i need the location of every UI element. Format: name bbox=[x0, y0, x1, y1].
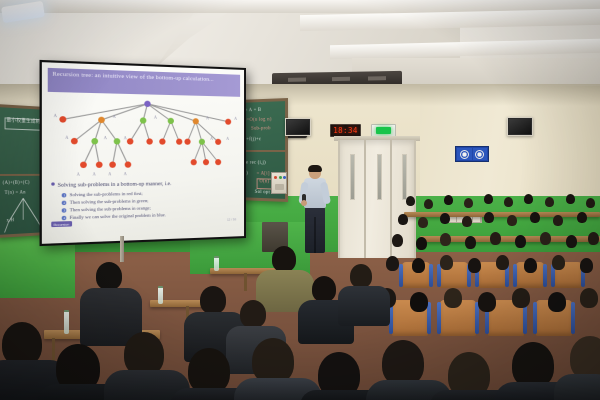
bullet-dot-icon bbox=[51, 182, 54, 185]
led-clock-time: 18:34 bbox=[333, 126, 358, 135]
bullet-number-icon: 2 bbox=[62, 200, 67, 205]
audience-head bbox=[462, 216, 472, 227]
desk-row bbox=[404, 212, 600, 217]
bullet-number-icon: 4 bbox=[62, 216, 67, 221]
svg-text:A: A bbox=[113, 114, 116, 119]
audience-body bbox=[338, 286, 390, 326]
svg-text:A: A bbox=[210, 136, 213, 141]
wall-safety-signs bbox=[455, 146, 489, 162]
screen-support-pole bbox=[120, 236, 124, 262]
audience-head bbox=[412, 258, 425, 273]
lecture-hall-photo: 最小权重生成树 (A)+(B)+(C) T(n) = An x H f(i) =… bbox=[0, 0, 600, 400]
audience-head bbox=[465, 236, 476, 249]
control-light-green-icon bbox=[279, 176, 282, 179]
audience-head bbox=[96, 262, 122, 290]
audience-head bbox=[418, 217, 428, 228]
bullet-number-icon: 3 bbox=[62, 208, 67, 213]
chalk-right-line-8: Sol opt bbox=[255, 190, 270, 197]
slide-sub-bullet-3-text: Finally we can solve the original proble… bbox=[70, 212, 166, 220]
chalk-right-line-7: O(n) bbox=[259, 179, 269, 185]
svg-text:A: A bbox=[108, 171, 111, 176]
projection-screen: Recursion tree: an intuitive view of the… bbox=[40, 60, 246, 246]
svg-text:A: A bbox=[154, 115, 157, 120]
audience-head bbox=[406, 196, 415, 206]
svg-text:A: A bbox=[206, 115, 209, 120]
door-glass-panel bbox=[402, 154, 407, 200]
entrance-doors[interactable] bbox=[338, 140, 416, 258]
audience-head bbox=[588, 232, 599, 245]
lecturer-hair bbox=[308, 165, 322, 172]
svg-text:A: A bbox=[77, 171, 80, 176]
audience-head bbox=[272, 246, 296, 272]
audience-head bbox=[312, 276, 336, 302]
audience-head bbox=[553, 215, 563, 226]
audience-head bbox=[240, 300, 266, 328]
svg-text:A: A bbox=[65, 135, 68, 140]
chalk-right-line-2: Sub-prob bbox=[251, 126, 271, 132]
audience-head bbox=[540, 232, 551, 245]
audience-head bbox=[484, 212, 494, 223]
safety-sign-icon-1 bbox=[457, 148, 472, 160]
audience-head bbox=[468, 258, 481, 273]
audience-head bbox=[478, 292, 496, 312]
audience-head bbox=[545, 197, 554, 207]
audience-body bbox=[554, 374, 600, 400]
wall-monitor-left bbox=[285, 118, 311, 136]
svg-text:A: A bbox=[124, 171, 127, 176]
svg-text:A: A bbox=[234, 116, 237, 121]
audience-head bbox=[504, 197, 513, 207]
control-switch-icon[interactable] bbox=[275, 184, 284, 190]
audience-head bbox=[464, 198, 473, 208]
audience-head bbox=[440, 233, 451, 246]
control-light-blue-icon bbox=[283, 176, 286, 179]
audience-head bbox=[515, 235, 526, 248]
audience-head bbox=[490, 232, 501, 245]
audience-head bbox=[530, 212, 540, 223]
slide-page-number: 12 / 30 bbox=[227, 217, 236, 221]
audience-head bbox=[580, 258, 593, 273]
audience-head bbox=[548, 292, 566, 312]
audience-head bbox=[416, 237, 427, 250]
audience-head bbox=[566, 235, 577, 248]
svg-text:A: A bbox=[226, 136, 229, 141]
audience-head bbox=[552, 255, 565, 270]
audience-head bbox=[484, 194, 493, 204]
slide-surface: Recursion tree: an intuitive view of the… bbox=[42, 62, 244, 244]
door-glass-panel bbox=[350, 154, 355, 200]
audience-head bbox=[444, 288, 462, 308]
door-seam bbox=[364, 140, 366, 258]
svg-text:A: A bbox=[104, 135, 107, 140]
audience-head bbox=[580, 288, 598, 308]
audience-head bbox=[577, 212, 587, 223]
lecturer bbox=[300, 166, 330, 254]
slide-sub-bullet-0-text: Solving the sub-problems in red first; bbox=[70, 190, 143, 197]
lecturer-legs bbox=[305, 207, 325, 253]
exit-sign-icon bbox=[376, 127, 391, 134]
water-bottle bbox=[158, 286, 163, 304]
svg-text:A: A bbox=[124, 135, 127, 140]
wall-control-panel[interactable] bbox=[271, 172, 287, 194]
audience-head bbox=[444, 195, 453, 205]
audience-head bbox=[410, 292, 428, 312]
chalk-line-1: (A)+(B)+(C) bbox=[3, 181, 30, 187]
audience-head bbox=[507, 215, 517, 226]
audience-head bbox=[398, 214, 408, 225]
svg-text:A: A bbox=[54, 113, 57, 118]
slide-bullet-list: Solving sub-problems in a bottom-up mann… bbox=[51, 180, 238, 222]
lecturer-hand bbox=[301, 200, 307, 206]
audience-head bbox=[350, 264, 372, 288]
audience-head bbox=[524, 194, 533, 204]
svg-text:A: A bbox=[93, 171, 96, 176]
slide-footer-tag: Recursion bbox=[51, 221, 71, 227]
audience-head bbox=[440, 255, 453, 270]
control-light-red-icon bbox=[274, 176, 277, 179]
door-glass-panel bbox=[377, 154, 382, 200]
chalk-right-line-6: = A[i] bbox=[257, 171, 270, 177]
audience-head bbox=[440, 213, 450, 224]
audience-head bbox=[424, 199, 433, 209]
wall-monitor-right bbox=[507, 117, 533, 136]
audience-head bbox=[586, 198, 595, 208]
bullet-number-icon: 1 bbox=[62, 193, 67, 198]
slide-body: AAA AA AAA AA AAAA Solving sub-problems … bbox=[47, 95, 241, 228]
audience-head bbox=[566, 194, 575, 204]
slide-bullet-main-text: Solving sub-problems in a bottom-up mann… bbox=[58, 181, 172, 189]
desk-leg bbox=[244, 273, 247, 291]
water-bottle bbox=[214, 256, 219, 271]
audience-head bbox=[200, 286, 226, 314]
slide-title: Recursion tree: an intuitive view of the… bbox=[48, 68, 240, 97]
audience-head bbox=[524, 258, 537, 273]
audience-head bbox=[496, 255, 509, 270]
audience-head bbox=[386, 256, 399, 271]
audience-head bbox=[392, 234, 403, 247]
audience-head bbox=[512, 288, 530, 308]
water-bottle bbox=[64, 310, 69, 334]
safety-sign-icon-2 bbox=[473, 148, 488, 160]
